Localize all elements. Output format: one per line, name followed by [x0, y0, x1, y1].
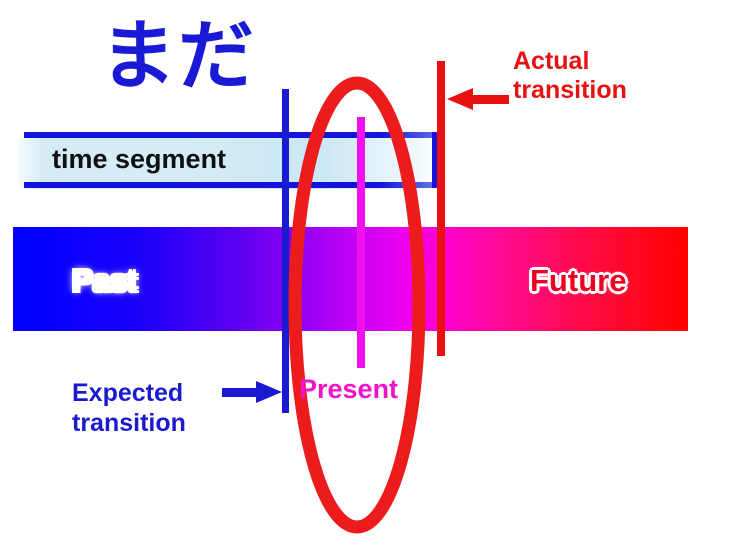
right-arrow-icon	[222, 379, 282, 405]
future-label: Future	[530, 263, 626, 299]
expected-transition-label-line-2: transition	[72, 408, 186, 438]
present-label: Present	[299, 374, 398, 405]
present-highlight-ellipse-stroke	[295, 83, 419, 527]
expected-transition-label: Expected transition	[72, 378, 186, 438]
expected-transition-label-line-1: Expected	[72, 378, 186, 408]
actual-transition-label: Actual transition	[513, 47, 627, 105]
present-highlight-ellipse	[286, 74, 428, 536]
japanese-caption-mada: まだ	[100, 18, 256, 94]
actual-transition-line	[437, 61, 445, 356]
past-label: Past	[72, 263, 137, 299]
time-segment-label: time segment	[52, 144, 226, 175]
left-arrow-icon	[447, 86, 509, 112]
actual-transition-label-line-2: transition	[513, 76, 627, 105]
actual-transition-label-line-1: Actual	[513, 47, 627, 76]
diagram-canvas: まだ time segment Past Future Actual trans…	[0, 0, 729, 554]
